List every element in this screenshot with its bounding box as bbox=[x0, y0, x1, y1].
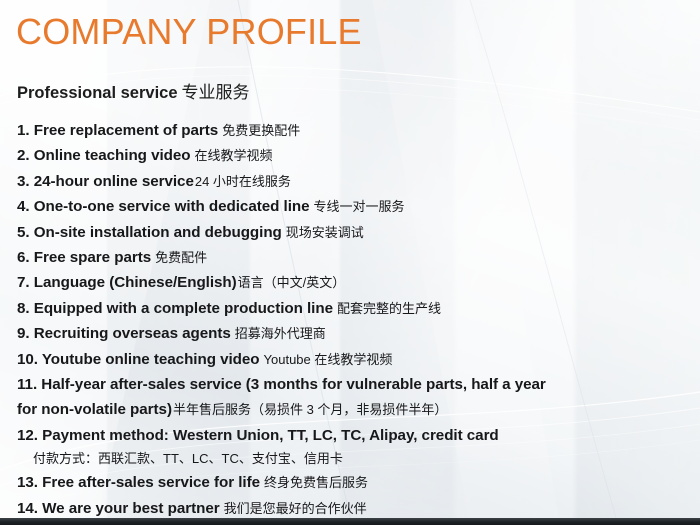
list-item: 2. Online teaching video在线教学视频 bbox=[17, 143, 689, 168]
list-item-en: 5. On-site installation and debugging bbox=[17, 224, 282, 241]
list-item-en: 13. Free after-sales service for life bbox=[17, 474, 260, 491]
list-item-cn: 24 小时在线服务 bbox=[195, 174, 291, 189]
section-heading-cn: 专业服务 bbox=[182, 83, 250, 102]
list-item-en: 1. Free replacement of parts bbox=[17, 122, 218, 139]
list-item-cn: 现场安装调试 bbox=[286, 225, 364, 240]
list-item: 1. Free replacement of parts免费更换配件 bbox=[17, 118, 689, 143]
list-item-cn: Youtube 在线教学视频 bbox=[264, 352, 393, 367]
list-item-en: 14. We are your best partner bbox=[17, 500, 220, 517]
list-item: 13. Free after-sales service for life终身免… bbox=[17, 470, 689, 495]
list-item: 11. Half-year after-sales service (3 mon… bbox=[17, 372, 562, 423]
list-item-en: 4. One-to-one service with dedicated lin… bbox=[17, 198, 310, 215]
list-item-en: 3. 24-hour online service bbox=[17, 173, 194, 190]
section-heading-en: Professional service bbox=[17, 84, 178, 102]
page-title: COMPANY PROFILE bbox=[16, 10, 362, 54]
list-item: 6. Free spare parts免费配件 bbox=[17, 245, 689, 270]
list-item-cn: 在线教学视频 bbox=[195, 148, 273, 163]
list-item-en: 8. Equipped with a complete production l… bbox=[17, 300, 333, 317]
list-item: 7. Language (Chinese/English)语言（中文/英文） bbox=[17, 270, 689, 295]
list-item-cn: 专线一对一服务 bbox=[314, 199, 405, 214]
list-item-en: 10. Youtube online teaching video bbox=[17, 351, 260, 368]
list-item-en: 7. Language (Chinese/English) bbox=[17, 274, 237, 291]
list-item-cn: 免费更换配件 bbox=[222, 123, 300, 138]
list-item: 8. Equipped with a complete production l… bbox=[17, 296, 689, 321]
section-heading: Professional service专业服务 bbox=[17, 82, 250, 104]
service-list: 1. Free replacement of parts免费更换配件 2. On… bbox=[17, 118, 689, 521]
list-item: 10. Youtube online teaching videoYoutube… bbox=[17, 347, 689, 372]
list-item: 9. Recruiting overseas agents招募海外代理商 bbox=[17, 321, 689, 346]
list-item-cn: 招募海外代理商 bbox=[235, 326, 326, 341]
list-item-cn: 配套完整的生产线 bbox=[337, 301, 441, 316]
list-item: 3. 24-hour online service24 小时在线服务 bbox=[17, 169, 689, 194]
list-item-cn: 终身免费售后服务 bbox=[264, 475, 368, 490]
list-item-cn: 付款方式：西联汇款、TT、LC、TC、支付宝、信用卡 bbox=[17, 448, 689, 470]
slide-content: COMPANY PROFILE Professional service专业服务… bbox=[0, 0, 700, 525]
list-item-en: 12. Payment method: Western Union, TT, L… bbox=[17, 427, 499, 444]
list-item-cn: 我们是您最好的合作伙伴 bbox=[224, 501, 367, 516]
bottom-edge-strip bbox=[0, 518, 700, 525]
list-item-cn: 语言（中文/英文） bbox=[238, 275, 346, 290]
list-item: 12. Payment method: Western Union, TT, L… bbox=[17, 423, 689, 448]
list-item-cn: 半年售后服务（易损件 3 个月，非易损件半年） bbox=[173, 402, 447, 417]
list-item-en: 2. Online teaching video bbox=[17, 147, 191, 164]
list-item: 5. On-site installation and debugging现场安… bbox=[17, 220, 689, 245]
list-item-cn: 免费配件 bbox=[155, 250, 207, 265]
slide-canvas: COMPANY PROFILE Professional service专业服务… bbox=[0, 0, 700, 525]
list-item-en: 9. Recruiting overseas agents bbox=[17, 325, 231, 342]
list-item: 4. One-to-one service with dedicated lin… bbox=[17, 194, 689, 219]
list-item-en: 6. Free spare parts bbox=[17, 249, 151, 266]
